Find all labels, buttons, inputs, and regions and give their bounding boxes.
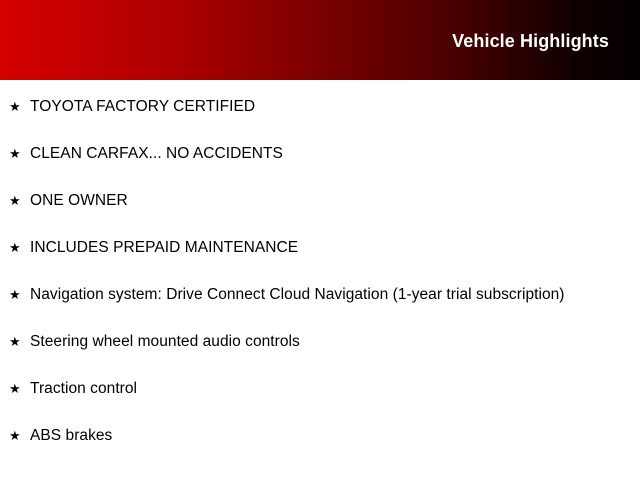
- highlight-item-0: ★ TOYOTA FACTORY CERTIFIED: [0, 96, 640, 117]
- vehicle-highlights-page: Vehicle Highlights ★ TOYOTA FACTORY CERT…: [0, 0, 640, 480]
- highlight-item-label: INCLUDES PREPAID MAINTENANCE: [30, 237, 298, 258]
- highlight-item-6: ★ Traction control: [0, 378, 640, 399]
- highlight-item-label: ONE OWNER: [30, 190, 128, 211]
- star-icon: ★: [9, 241, 23, 254]
- highlight-item-1: ★ CLEAN CARFAX... NO ACCIDENTS: [0, 143, 640, 164]
- vehicle-highlights-list: ★ TOYOTA FACTORY CERTIFIED ★ CLEAN CARFA…: [0, 80, 640, 472]
- highlight-item-label: ABS brakes: [30, 425, 112, 446]
- star-icon: ★: [9, 100, 23, 113]
- highlight-item-7: ★ ABS brakes: [0, 425, 640, 446]
- highlight-item-label: Traction control: [30, 378, 137, 399]
- star-icon: ★: [9, 382, 23, 395]
- header-banner: Vehicle Highlights: [0, 0, 640, 80]
- highlight-item-5: ★ Steering wheel mounted audio controls: [0, 331, 640, 352]
- highlight-item-label: CLEAN CARFAX... NO ACCIDENTS: [30, 143, 283, 164]
- star-icon: ★: [9, 288, 23, 301]
- highlight-item-2: ★ ONE OWNER: [0, 190, 640, 211]
- highlight-item-3: ★ INCLUDES PREPAID MAINTENANCE: [0, 237, 640, 258]
- highlight-item-4: ★ Navigation system: Drive Connect Cloud…: [0, 284, 640, 305]
- highlight-item-label: Navigation system: Drive Connect Cloud N…: [30, 284, 565, 305]
- highlight-item-label: TOYOTA FACTORY CERTIFIED: [30, 96, 255, 117]
- highlight-item-label: Steering wheel mounted audio controls: [30, 331, 300, 352]
- star-icon: ★: [9, 335, 23, 348]
- star-icon: ★: [9, 194, 23, 207]
- page-title: Vehicle Highlights: [452, 30, 609, 52]
- star-icon: ★: [9, 429, 23, 442]
- star-icon: ★: [9, 147, 23, 160]
